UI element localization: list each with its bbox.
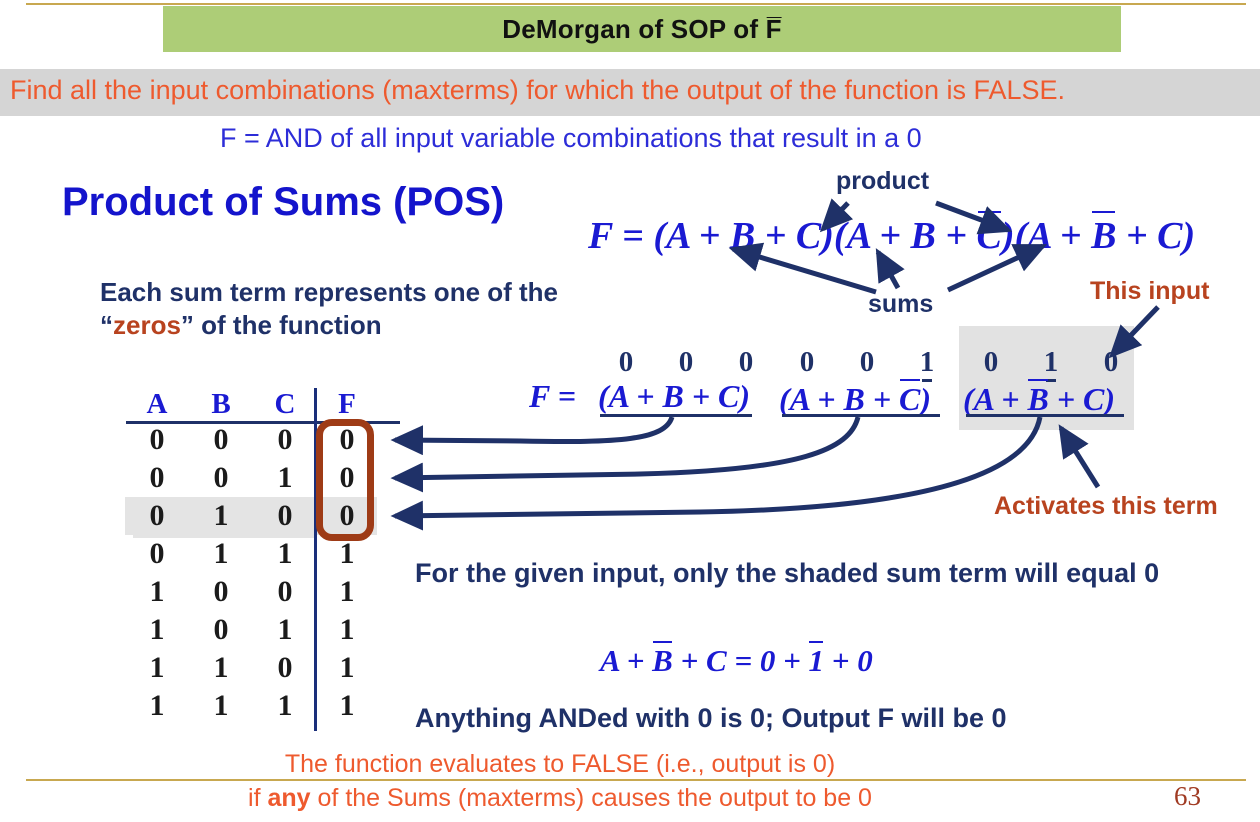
digit-c: 1	[897, 346, 957, 379]
digits-row-term-3: 010	[961, 346, 1141, 379]
sum-term-2: (A + B + C)	[779, 378, 931, 418]
substitution-equation: A + B + C = 0 + 1 + 0	[600, 640, 873, 679]
sum-term-3-text: (A + B + C)	[963, 381, 1115, 417]
paren-close: )	[821, 215, 834, 257]
cell-a: 1	[125, 649, 189, 687]
cell-b: 0	[189, 611, 253, 649]
activates-this-term-label: Activates this term	[994, 492, 1218, 521]
eq-main-term-3: (A + B + C)	[1015, 215, 1196, 257]
digit-b: 0	[837, 346, 897, 379]
footer-line-2-post: of the Sums (maxterms) causes the output…	[311, 784, 872, 812]
cell-f: 1	[317, 649, 377, 687]
digit-b: 0	[656, 346, 716, 379]
eq-main-equals: =	[622, 215, 644, 257]
value-c: 0	[857, 643, 873, 678]
var-b-negated: B	[1091, 210, 1116, 258]
paren-close: )	[1002, 215, 1015, 257]
cell-c: 0	[253, 649, 317, 687]
explanation-line-1: For the given input, only the shaded sum…	[415, 557, 1175, 590]
title-banner: DeMorgan of SOP of F̅	[163, 6, 1121, 52]
digits-row-term-2: 001	[777, 346, 957, 379]
var-b: B	[910, 215, 935, 257]
sum-term-3: (A + B + C)	[963, 378, 1115, 418]
column-header-f: F	[317, 388, 377, 421]
cell-b: 1	[189, 649, 253, 687]
var-c: C	[706, 643, 727, 678]
eq-main-lhs: F	[588, 215, 613, 257]
each-sum-term-note: Each sum term represents one of the “zer…	[100, 276, 720, 341]
sum-term-1-underline	[600, 414, 752, 417]
var-a: A	[609, 378, 629, 414]
plus: +	[765, 215, 787, 257]
cell-f: 1	[317, 687, 377, 725]
eq-main-term-2: (A + B + C)	[834, 215, 1015, 257]
cell-b: 0	[189, 421, 253, 459]
digit-c-value: 1	[920, 346, 935, 379]
digit-a: 0	[596, 346, 656, 379]
page-title: DeMorgan of SOP of F̅	[502, 14, 781, 45]
f-zeros-outline-box	[316, 419, 374, 541]
explanation-line-2: Anything ANDed with 0 is 0; Output F wil…	[415, 703, 1007, 734]
var-a: A	[790, 381, 810, 417]
cell-b: 0	[189, 573, 253, 611]
cell-f: 1	[317, 573, 377, 611]
cell-c: 1	[253, 535, 317, 573]
digit-c: 0	[716, 346, 776, 379]
plus: +	[879, 215, 901, 257]
instruction-text: Find all the input combinations (maxterm…	[10, 75, 1260, 106]
var-a: A	[974, 381, 994, 417]
column-header-a: A	[125, 388, 189, 421]
quote-open: “	[100, 310, 113, 340]
digit-a: 0	[961, 346, 1021, 379]
cell-a: 1	[125, 611, 189, 649]
page-number: 63	[1174, 781, 1201, 812]
footer-line-1: The function evaluates to FALSE (i.e., o…	[0, 750, 1260, 779]
var-a: A	[1027, 215, 1050, 257]
value-a: 0	[760, 643, 776, 678]
plus: +	[1126, 215, 1148, 257]
product-of-sums-heading: Product of Sums (POS)	[62, 180, 504, 225]
paren-close: )	[1182, 215, 1195, 257]
digit-c: 0	[1081, 346, 1141, 379]
sum-term-1: (A + B + C)	[598, 378, 750, 415]
var-c-negated: C	[977, 210, 1002, 258]
cell-b: 1	[189, 535, 253, 573]
var-c: C	[718, 378, 739, 414]
each-sum-term-line1: Each sum term represents one of the	[100, 277, 558, 307]
cell-a: 0	[125, 421, 189, 459]
cell-a: 1	[125, 687, 189, 725]
table-row: 1111	[125, 687, 377, 725]
paren-open: (	[1015, 215, 1028, 257]
cell-c: 1	[253, 687, 317, 725]
slide-canvas: DeMorgan of SOP of F̅ Find all the input…	[0, 0, 1260, 822]
var-b-negated: B	[652, 640, 673, 679]
digit-a: 0	[777, 346, 837, 379]
cell-b: 1	[189, 687, 253, 725]
cell-a: 0	[125, 497, 189, 535]
var-a: A	[600, 643, 619, 678]
value-b-negated: 1	[809, 640, 825, 679]
arrow-term1-to-row1	[395, 417, 672, 442]
bottom-gold-rule	[26, 779, 1246, 781]
sum-term-1-text: (A + B + C)	[598, 378, 750, 414]
digits-row-term-1: 000	[596, 346, 776, 379]
digit-b-value: 1	[1044, 346, 1059, 379]
eq-main-term-1: (A + B + C)	[653, 215, 834, 257]
arrow-activates-this-term	[1061, 428, 1098, 487]
cell-c: 0	[253, 573, 317, 611]
table-row: 1101	[125, 649, 377, 687]
var-c-negated: C	[899, 378, 920, 418]
cell-c: 1	[253, 611, 317, 649]
product-label: product	[836, 167, 929, 196]
var-c: C	[1157, 215, 1182, 257]
var-a: A	[666, 215, 689, 257]
table-row: 1001	[125, 573, 377, 611]
arrow-term2-to-row2	[395, 417, 858, 478]
quote-close-rest: ” of the function	[181, 310, 382, 340]
eq-terms-lhs: F =	[529, 378, 576, 415]
var-b-negated: B	[1027, 378, 1048, 418]
plus: +	[699, 215, 721, 257]
plus: +	[1060, 215, 1082, 257]
footer-line-2-bold: any	[267, 784, 310, 812]
column-header-b: B	[189, 388, 253, 421]
main-equation: F = (A + B + C)(A + B + C)(A + B + C)	[588, 210, 1195, 258]
cell-c: 0	[253, 497, 317, 535]
column-header-c: C	[253, 388, 317, 421]
var-b: B	[843, 381, 864, 417]
var-b: B	[662, 378, 683, 414]
cell-a: 0	[125, 535, 189, 573]
cell-a: 0	[125, 459, 189, 497]
footer-line-2: if any of the Sums (maxterms) causes the…	[0, 784, 1260, 813]
arrow-term3-to-row3	[395, 417, 1040, 516]
paren-open: (	[834, 215, 847, 257]
table-row: 1011	[125, 611, 377, 649]
plus: +	[945, 215, 967, 257]
subtitle-text: F = AND of all input variable combinatio…	[220, 123, 922, 154]
digit-b: 1	[1021, 346, 1081, 379]
truth-table-header-row: A B C F	[125, 388, 377, 421]
cell-c: 0	[253, 421, 317, 459]
sum-term-2-underline	[782, 414, 940, 417]
footer-line-2-pre: if	[248, 784, 267, 812]
cell-c: 1	[253, 459, 317, 497]
paren-open: (	[653, 215, 666, 257]
var-b: B	[730, 215, 755, 257]
var-c: C	[1083, 381, 1104, 417]
cell-a: 1	[125, 573, 189, 611]
cell-b: 1	[189, 497, 253, 535]
var-a: A	[847, 215, 870, 257]
sums-label: sums	[868, 290, 933, 319]
zeros-highlight: zeros	[113, 310, 181, 340]
top-gold-rule	[26, 3, 1246, 5]
cell-b: 0	[189, 459, 253, 497]
var-c: C	[796, 215, 821, 257]
sum-term-2-text: (A + B + C)	[779, 381, 931, 417]
this-input-label: This input	[1090, 277, 1209, 306]
sum-term-3-underline	[966, 414, 1124, 417]
cell-f: 1	[317, 611, 377, 649]
